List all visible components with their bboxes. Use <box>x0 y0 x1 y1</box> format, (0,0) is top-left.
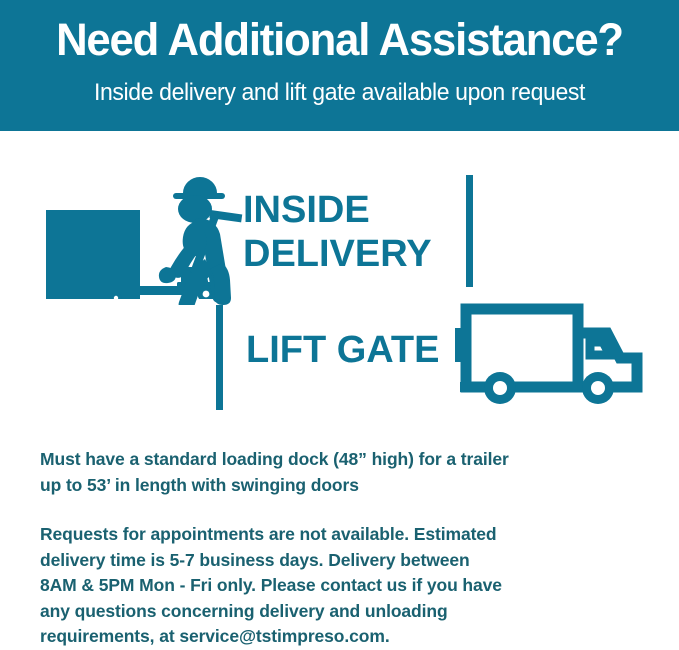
delivery-truck-icon <box>455 300 647 405</box>
paragraph-2-line-3: 8AM & 5PM Mon - Fri only. Please contact… <box>40 573 648 599</box>
service-label-inside-delivery: INSIDE DELIVERY <box>243 188 432 276</box>
vertical-divider-lift-gate <box>216 305 223 410</box>
paragraph-2-line-2: delivery time is 5-7 business days. Deli… <box>40 548 648 574</box>
header-banner: Need Additional Assistance? Inside deliv… <box>0 0 679 131</box>
service-row-lift-gate: LIFT GATE <box>0 295 679 415</box>
page-title: Need Additional Assistance? <box>10 14 669 66</box>
worker-figure-icon <box>150 163 255 305</box>
service-label-lift-gate: LIFT GATE <box>246 328 440 372</box>
service-row-inside-delivery: INSIDE DELIVERY <box>0 150 679 300</box>
service-label-line-1: INSIDE <box>243 188 432 232</box>
page-subtitle: Inside delivery and lift gate available … <box>14 78 666 108</box>
paragraph-2-line-4: any questions concerning delivery and un… <box>40 599 648 625</box>
paragraph-1-line-1: Must have a standard loading dock (48” h… <box>40 447 648 473</box>
assistance-infographic: Need Additional Assistance? Inside deliv… <box>0 0 679 642</box>
paragraph-2-line-1: Requests for appointments are not availa… <box>40 522 648 548</box>
requirements-paragraph-2: Requests for appointments are not availa… <box>40 522 648 650</box>
delivery-requirements-text: Must have a standard loading dock (48” h… <box>40 447 648 650</box>
paragraph-2-line-5: requirements, at service@tstimpreso.com. <box>40 624 648 650</box>
paragraph-1-line-2: up to 53’ in length with swinging doors <box>40 473 648 499</box>
vertical-divider-inside-delivery <box>466 175 473 287</box>
requirements-paragraph-1: Must have a standard loading dock (48” h… <box>40 447 648 498</box>
service-label-line-2: DELIVERY <box>243 232 432 276</box>
